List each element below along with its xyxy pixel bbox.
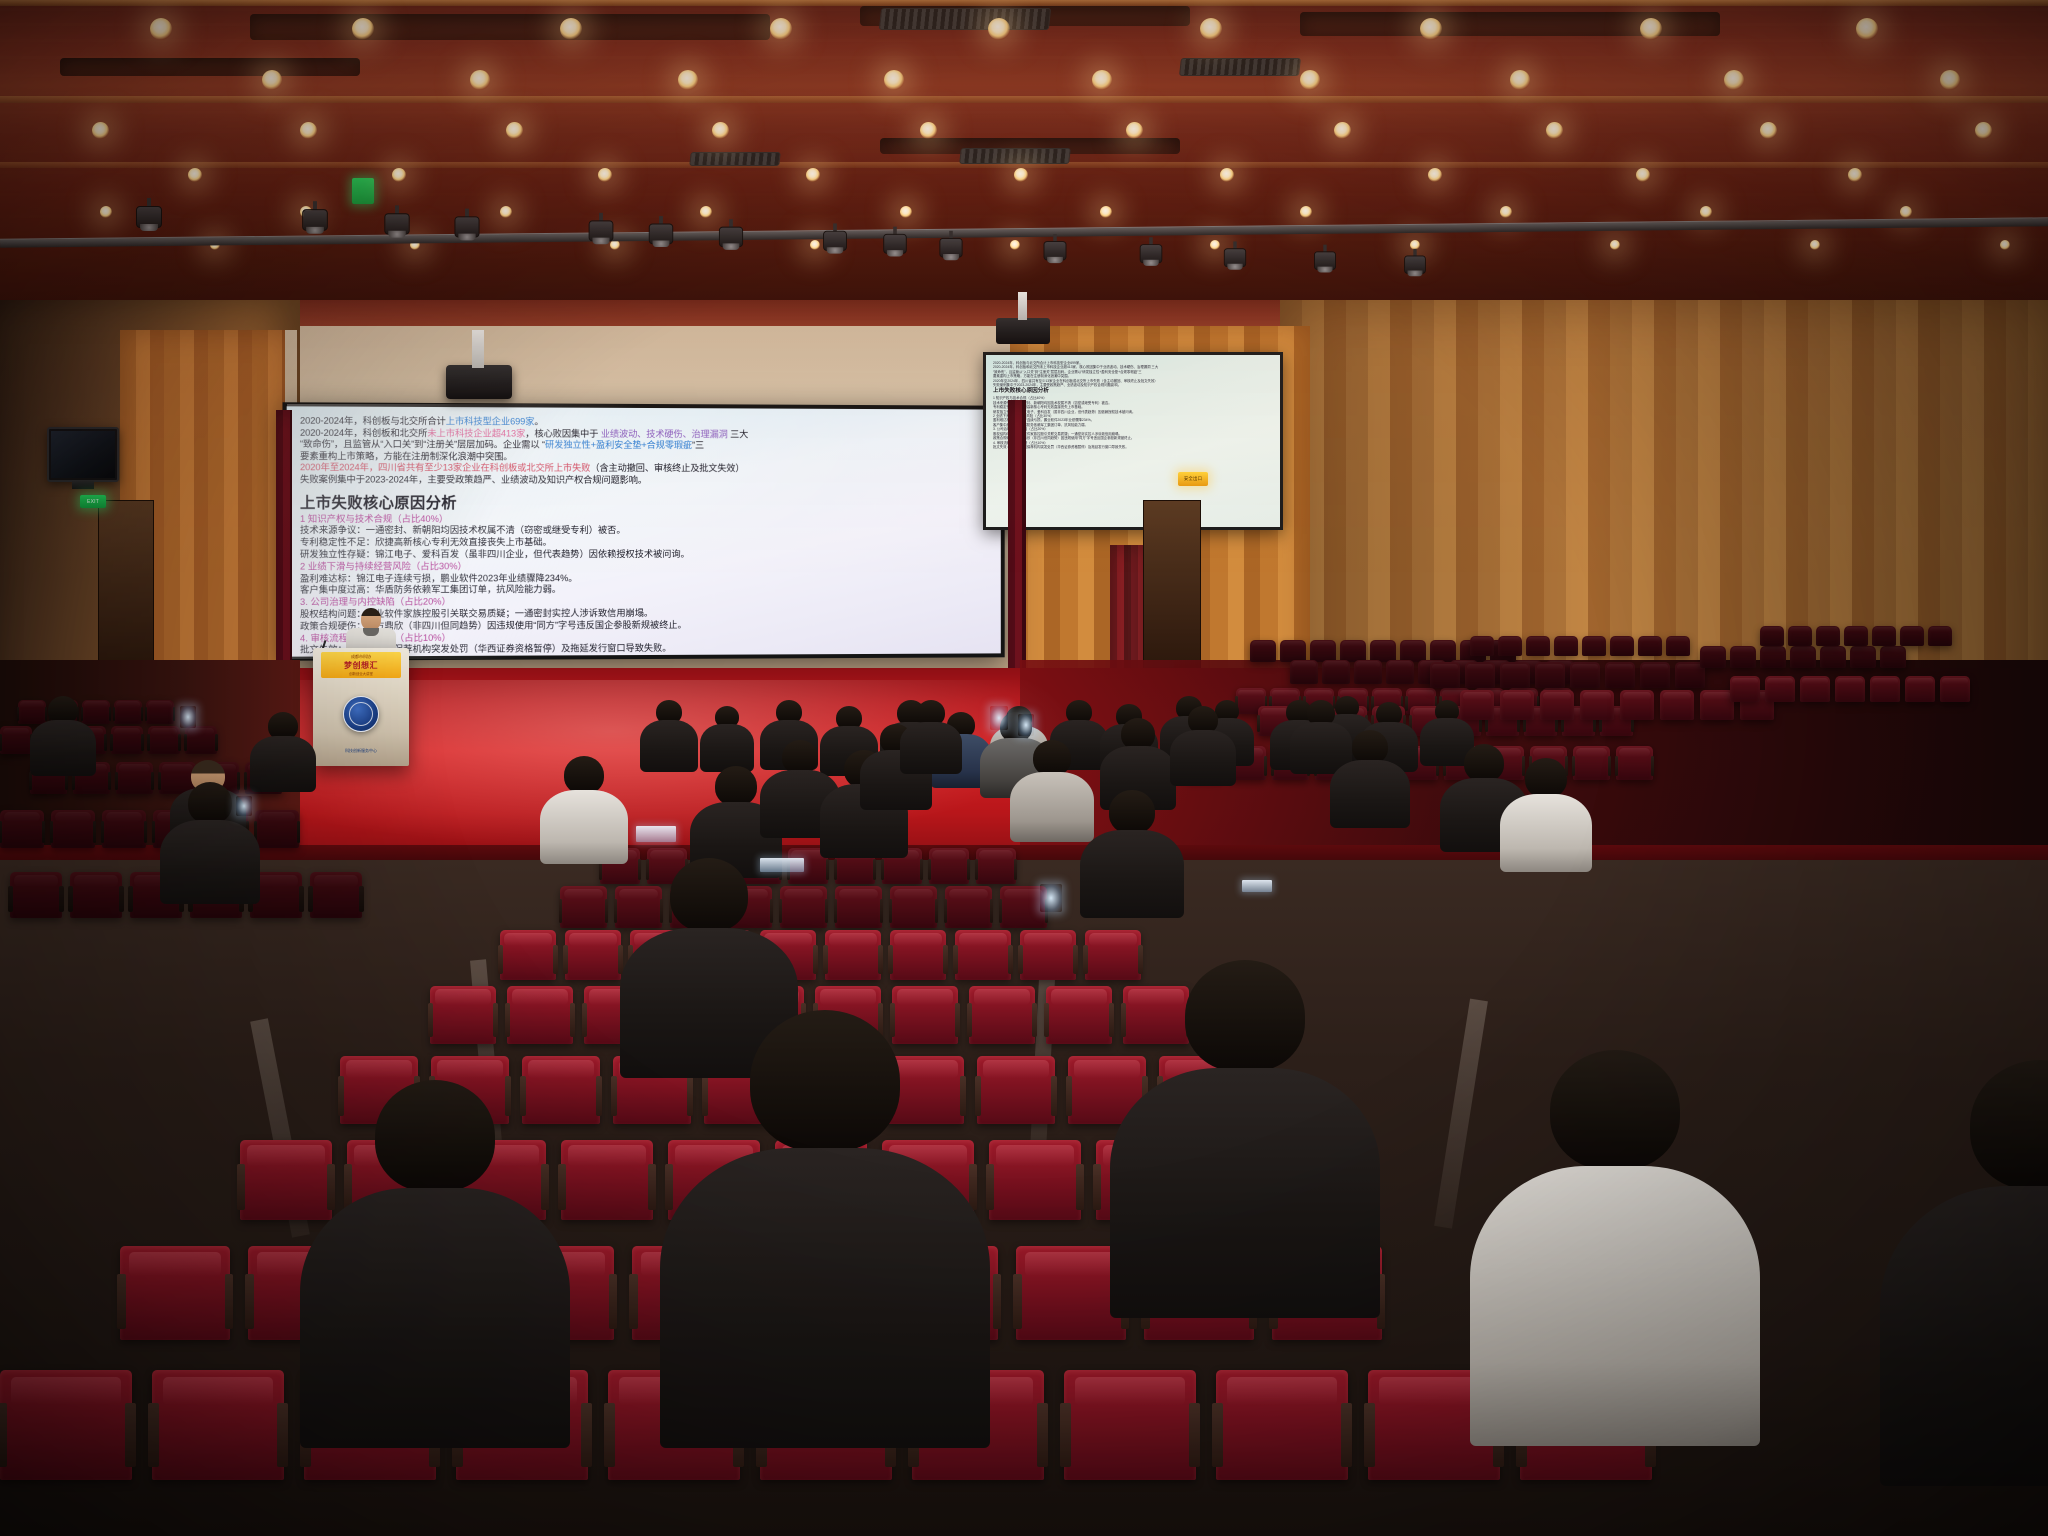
seat[interactable] bbox=[1620, 690, 1654, 720]
seat[interactable] bbox=[310, 872, 362, 918]
seat-backrest-highlight bbox=[1663, 692, 1692, 700]
seat-armrest bbox=[581, 1403, 592, 1467]
seat[interactable] bbox=[1430, 640, 1456, 662]
seat[interactable] bbox=[1470, 636, 1494, 656]
ceiling-downlight bbox=[1210, 240, 1220, 250]
seat-armrest bbox=[145, 707, 147, 721]
person-head bbox=[375, 1080, 495, 1192]
person-head bbox=[564, 756, 604, 794]
slide-section-heading-1: 1 知识产权与技术合规（占比40%） bbox=[300, 513, 991, 525]
podium: 成都市科协 梦创想汇 创新创业大讲堂 科技创新服务中心 bbox=[313, 648, 409, 766]
seat[interactable] bbox=[561, 1140, 653, 1220]
seat-armrest bbox=[1093, 1164, 1100, 1210]
seat-backrest-highlight bbox=[1312, 641, 1334, 647]
seat-armrest bbox=[0, 734, 2, 750]
seat[interactable] bbox=[1582, 636, 1606, 656]
seat[interactable] bbox=[1850, 646, 1876, 668]
seat[interactable] bbox=[1816, 626, 1840, 646]
seat-armrest bbox=[943, 945, 947, 974]
seat-backrest-highlight bbox=[1324, 661, 1348, 667]
audience-member bbox=[660, 1010, 990, 1452]
seat-armrest bbox=[559, 899, 563, 923]
podium-banner-main: 梦创想汇 bbox=[344, 660, 378, 671]
phone-screen bbox=[1018, 714, 1034, 736]
podium-emblem-ring bbox=[349, 702, 373, 726]
seat-backrest-highlight bbox=[1238, 690, 1263, 697]
seat-armrest bbox=[993, 1274, 1002, 1329]
seat[interactable] bbox=[0, 810, 44, 848]
seat[interactable] bbox=[976, 848, 1016, 884]
seat-armrest bbox=[999, 899, 1003, 923]
ceiling-downlight bbox=[560, 18, 582, 40]
monitor-left-stand bbox=[72, 480, 94, 489]
stage-spotlight bbox=[647, 216, 675, 248]
ceiling-downlight bbox=[92, 122, 109, 139]
phone-screen bbox=[236, 796, 252, 816]
seat[interactable] bbox=[1280, 640, 1306, 662]
seat-backrest-highlight bbox=[1642, 664, 1667, 671]
seat-backrest-highlight bbox=[979, 850, 1013, 859]
seat-backrest-highlight bbox=[119, 764, 150, 772]
stage-spotlight bbox=[1138, 237, 1164, 267]
seat-backrest-highlight bbox=[1272, 690, 1297, 697]
text: ，核心败因集中于 bbox=[525, 428, 601, 438]
seat[interactable] bbox=[185, 726, 217, 754]
seat[interactable] bbox=[10, 872, 62, 918]
secondary-display: 2020-2024年，科创板与北交所合计上市科技型企业699家。2020-202… bbox=[983, 352, 1283, 530]
audience-member bbox=[900, 700, 962, 778]
seat[interactable] bbox=[1872, 626, 1896, 646]
seat[interactable] bbox=[1540, 690, 1574, 720]
ceiling-panel bbox=[250, 14, 770, 40]
audience-member bbox=[1470, 1050, 1760, 1450]
seat[interactable] bbox=[1064, 1370, 1196, 1480]
seat-armrest bbox=[889, 899, 893, 923]
podium-caption: 科技创新服务中心 bbox=[313, 748, 409, 754]
seat[interactable] bbox=[1940, 676, 1970, 702]
ceiling-wood-strip bbox=[0, 96, 2048, 103]
ceiling-downlight bbox=[1100, 206, 1112, 218]
seat[interactable] bbox=[1700, 646, 1726, 668]
seat[interactable] bbox=[1526, 636, 1550, 656]
seat[interactable] bbox=[1640, 662, 1670, 688]
audience-member bbox=[640, 700, 698, 776]
seat-backrest-highlight bbox=[1732, 647, 1754, 653]
seat-armrest bbox=[614, 899, 618, 923]
ceiling-downlight bbox=[352, 18, 374, 40]
seat[interactable] bbox=[1844, 626, 1868, 646]
ceiling-projector-secondary bbox=[996, 318, 1050, 344]
seat[interactable] bbox=[1760, 646, 1786, 668]
seat[interactable] bbox=[102, 810, 146, 848]
seat-armrest bbox=[359, 886, 363, 913]
seat[interactable] bbox=[1500, 662, 1530, 688]
seat-armrest bbox=[125, 1403, 136, 1467]
spotlight-lens bbox=[1143, 260, 1159, 266]
seat-backrest-highlight bbox=[829, 933, 876, 946]
seat[interactable] bbox=[1290, 660, 1318, 684]
seat[interactable] bbox=[825, 930, 881, 980]
seat[interactable] bbox=[1638, 636, 1662, 656]
seat[interactable] bbox=[1354, 660, 1382, 684]
text: 2020-2024年，科创板和北交所 bbox=[300, 427, 427, 438]
seat-backrest-highlight bbox=[1463, 692, 1492, 700]
seat-armrest bbox=[93, 821, 97, 843]
seat[interactable] bbox=[70, 872, 122, 918]
seat-backrest-highlight bbox=[148, 701, 172, 707]
seat-backrest-highlight bbox=[254, 875, 298, 887]
text: 要素重构上市策略，方能在注册制深化浪潮中突围。 bbox=[300, 451, 513, 462]
seat[interactable] bbox=[1790, 646, 1816, 668]
ceiling-projector bbox=[446, 365, 512, 399]
seat-backrest-highlight bbox=[1408, 690, 1433, 697]
seat-armrest bbox=[834, 899, 838, 923]
seat[interactable] bbox=[114, 700, 142, 724]
seat-backrest-highlight bbox=[435, 989, 490, 1004]
seat[interactable] bbox=[1900, 626, 1924, 646]
spotlight-lens bbox=[653, 240, 670, 247]
seat-armrest bbox=[308, 886, 312, 913]
seat-backrest-highlight bbox=[1846, 627, 1866, 632]
seat-armrest bbox=[245, 1274, 254, 1329]
ceiling-downlight bbox=[300, 122, 317, 139]
seat-backrest-highlight bbox=[1907, 678, 1932, 685]
seat[interactable] bbox=[1216, 1370, 1348, 1480]
seat[interactable] bbox=[1666, 636, 1690, 656]
seat[interactable] bbox=[51, 810, 95, 848]
person-body bbox=[1470, 1166, 1760, 1446]
seat[interactable] bbox=[1500, 690, 1534, 720]
seat-backrest-highlight bbox=[1467, 664, 1492, 671]
seat[interactable] bbox=[1700, 690, 1734, 720]
seat[interactable] bbox=[1730, 646, 1756, 668]
person-body bbox=[640, 720, 698, 772]
person-body bbox=[160, 820, 260, 904]
ceiling-downlight bbox=[678, 70, 698, 90]
audience-member bbox=[540, 756, 628, 868]
seat-backrest-highlight bbox=[996, 1145, 1073, 1166]
seat[interactable] bbox=[1765, 676, 1795, 702]
ceiling-downlight bbox=[770, 18, 792, 40]
seat-backrest-highlight bbox=[974, 989, 1029, 1004]
seat-armrest bbox=[147, 734, 150, 750]
seat-armrest bbox=[570, 1003, 575, 1037]
seat-backrest-highlight bbox=[1024, 933, 1071, 946]
seat-backrest-highlight bbox=[1402, 641, 1424, 647]
seat[interactable] bbox=[0, 726, 32, 754]
seat[interactable] bbox=[1465, 662, 1495, 688]
seat[interactable] bbox=[890, 930, 946, 980]
seat-armrest bbox=[428, 1003, 433, 1037]
seat-armrest bbox=[215, 734, 218, 750]
seat-armrest bbox=[110, 734, 113, 750]
seat[interactable] bbox=[1498, 636, 1522, 656]
seat-backrest-highlight bbox=[932, 850, 966, 859]
seat-armrest bbox=[1037, 1403, 1048, 1467]
ceiling-downlight bbox=[1760, 122, 1777, 139]
slide-section-1-item-2: 专利稳定性不足：欣捷高新核心专利无效直接丧失上市基础。 bbox=[300, 537, 991, 549]
secondary-section-line-12: 批文失效：科志股份因保荐机构突发处罚（华西证券资格暂停）及拖延发行窗口导致失败。 bbox=[993, 445, 1273, 449]
seat[interactable] bbox=[146, 700, 174, 724]
seat-armrest bbox=[109, 707, 111, 721]
seat-backrest-highlight bbox=[983, 1060, 1049, 1078]
seat-backrest-highlight bbox=[512, 989, 567, 1004]
seat[interactable] bbox=[1800, 676, 1830, 702]
seat-backrest-highlight bbox=[1852, 647, 1874, 653]
ceiling-slat bbox=[0, 111, 2048, 114]
exit-sign-ceiling-icon bbox=[352, 178, 374, 204]
curtain-left bbox=[276, 410, 292, 690]
ceiling-downlight bbox=[1334, 122, 1351, 139]
text: ”三 bbox=[692, 440, 704, 450]
seat-armrest bbox=[975, 859, 978, 880]
seat-armrest bbox=[505, 1003, 510, 1037]
ceiling-downlight bbox=[1220, 168, 1234, 182]
seat[interactable] bbox=[955, 930, 1011, 980]
podium-emblem-icon bbox=[343, 696, 379, 732]
seat[interactable] bbox=[1400, 640, 1426, 662]
seat[interactable] bbox=[430, 986, 496, 1044]
exit-sign-right-icon: 安全出口 bbox=[1178, 472, 1208, 486]
seat-backrest-highlight bbox=[1792, 647, 1814, 653]
person-body bbox=[1330, 760, 1410, 828]
seat-armrest bbox=[277, 1403, 288, 1467]
seat[interactable] bbox=[1760, 626, 1784, 646]
seat[interactable] bbox=[1046, 986, 1112, 1044]
seat-armrest bbox=[42, 821, 46, 843]
person-body bbox=[1170, 730, 1236, 786]
spotlight-lens bbox=[1317, 267, 1332, 273]
ceiling-downlight bbox=[1010, 240, 1020, 250]
ceiling-downlight bbox=[1200, 18, 1222, 40]
seat-armrest bbox=[493, 1003, 498, 1037]
seat[interactable] bbox=[1386, 660, 1414, 684]
seat[interactable] bbox=[560, 886, 607, 928]
person-head bbox=[670, 858, 748, 932]
seat-armrest bbox=[1051, 1076, 1057, 1115]
seat[interactable] bbox=[1730, 676, 1760, 702]
monitor-left-screen bbox=[51, 431, 115, 478]
highlight: 上市科技型企业699家 bbox=[446, 416, 535, 426]
seat-armrest bbox=[1008, 945, 1012, 974]
seat-backrest-highlight bbox=[1930, 627, 1950, 632]
ceiling-vent bbox=[1179, 58, 1301, 76]
seat-armrest bbox=[1364, 1403, 1375, 1467]
seat-backrest-highlight bbox=[346, 1060, 412, 1078]
seat-armrest bbox=[1044, 1003, 1049, 1037]
seat-backrest-highlight bbox=[1762, 627, 1782, 632]
seat[interactable] bbox=[1928, 626, 1952, 646]
laptop-screen bbox=[636, 826, 676, 842]
seat-armrest bbox=[50, 821, 54, 843]
seat-backrest-highlight bbox=[129, 1252, 221, 1276]
ceiling-downlight bbox=[1848, 168, 1862, 182]
seat-armrest bbox=[609, 1274, 618, 1329]
seat-armrest bbox=[611, 1076, 617, 1115]
seat[interactable] bbox=[1820, 646, 1846, 668]
seat[interactable] bbox=[1250, 640, 1276, 662]
seat-armrest bbox=[1189, 1403, 1200, 1467]
seat[interactable] bbox=[1835, 676, 1865, 702]
spotlight-lens bbox=[458, 234, 475, 241]
seat[interactable] bbox=[148, 726, 180, 754]
seat-armrest bbox=[1066, 1076, 1072, 1115]
seat-armrest bbox=[953, 945, 957, 974]
spotlight-lens bbox=[388, 231, 406, 238]
seat-backrest-highlight bbox=[1004, 889, 1044, 900]
person-head bbox=[1464, 744, 1504, 782]
person-body bbox=[1110, 1068, 1380, 1318]
laptop-screen bbox=[760, 858, 804, 872]
seat-armrest bbox=[115, 772, 118, 791]
seat[interactable] bbox=[1020, 930, 1076, 980]
seat-armrest bbox=[582, 1003, 587, 1037]
ceiling-downlight bbox=[1610, 240, 1620, 250]
seat-backrest-highlight bbox=[1668, 637, 1688, 642]
seat-backrest-highlight bbox=[1802, 678, 1827, 685]
seat-armrest bbox=[152, 821, 156, 843]
person-body bbox=[30, 720, 96, 776]
ceiling-downlight bbox=[2000, 240, 2010, 250]
stage-spotlight bbox=[300, 201, 330, 235]
seat[interactable] bbox=[1340, 640, 1366, 662]
seat-armrest bbox=[104, 734, 107, 750]
slide-title: 上市失败核心原因分析 bbox=[300, 492, 991, 514]
seat-backrest-highlight bbox=[1677, 664, 1702, 671]
ceiling-downlight bbox=[1856, 18, 1878, 40]
seat[interactable] bbox=[152, 1370, 284, 1480]
seat-backrest-highlight bbox=[1619, 748, 1650, 757]
phone-screen bbox=[990, 706, 1008, 730]
audience-member bbox=[1330, 730, 1410, 832]
ceiling-downlight bbox=[1940, 70, 1960, 90]
text: 三大 bbox=[728, 429, 748, 439]
seat-armrest bbox=[225, 1274, 234, 1329]
seat-backrest-highlight bbox=[897, 989, 952, 1004]
seat[interactable] bbox=[890, 886, 937, 928]
seat-backrest-highlight bbox=[1818, 627, 1838, 632]
seat[interactable] bbox=[1570, 662, 1600, 688]
seat-backrest-highlight bbox=[106, 812, 143, 822]
laptop-screen bbox=[1242, 880, 1272, 892]
person-head bbox=[1970, 1060, 2048, 1190]
seat[interactable] bbox=[1788, 626, 1812, 646]
audience-member bbox=[1880, 1060, 2048, 1490]
seat-armrest bbox=[553, 945, 557, 974]
seat[interactable] bbox=[255, 810, 299, 848]
seat-backrest-highlight bbox=[894, 889, 934, 900]
seat[interactable] bbox=[0, 1370, 132, 1480]
seat[interactable] bbox=[111, 726, 143, 754]
slide-section-heading-2: 2 业绩下滑与持续经营风险（占比30%） bbox=[300, 560, 991, 573]
seat[interactable] bbox=[1880, 646, 1906, 668]
spotlight-lens bbox=[827, 247, 843, 253]
seat[interactable] bbox=[1554, 636, 1578, 656]
seat[interactable] bbox=[1535, 662, 1565, 688]
seat[interactable] bbox=[989, 1140, 1081, 1220]
ceiling-downlight bbox=[188, 168, 202, 182]
stage-spotlight bbox=[1222, 241, 1248, 270]
seat-backrest-highlight bbox=[116, 701, 140, 707]
seat-armrest bbox=[17, 707, 19, 721]
seat-armrest bbox=[1264, 756, 1267, 776]
seat[interactable] bbox=[1870, 676, 1900, 702]
seat-backrest-highlight bbox=[1790, 627, 1810, 632]
person-body bbox=[1080, 830, 1184, 918]
seat[interactable] bbox=[1310, 640, 1336, 662]
stage-spotlight bbox=[134, 198, 164, 232]
seat-armrest bbox=[1013, 1274, 1022, 1329]
seat[interactable] bbox=[507, 986, 573, 1044]
seat[interactable] bbox=[1370, 640, 1396, 662]
seat[interactable] bbox=[1616, 746, 1653, 780]
seat-armrest bbox=[1608, 756, 1611, 776]
ceiling-downlight bbox=[1300, 70, 1320, 90]
person-head bbox=[1033, 740, 1071, 776]
seat[interactable] bbox=[1580, 690, 1614, 720]
seat-backrest-highlight bbox=[1227, 1377, 1338, 1406]
seat-armrest bbox=[1615, 756, 1618, 776]
ceiling-downlight bbox=[1810, 240, 1820, 250]
seat[interactable] bbox=[945, 886, 992, 928]
seat[interactable] bbox=[116, 762, 153, 794]
seat[interactable] bbox=[929, 848, 969, 884]
seat[interactable] bbox=[1660, 690, 1694, 720]
ceiling-downlight bbox=[1420, 18, 1442, 40]
seat-armrest bbox=[108, 772, 111, 791]
seat-backrest-highlight bbox=[114, 728, 141, 735]
seat-backrest-highlight bbox=[14, 875, 58, 887]
ceiling-downlight bbox=[1092, 70, 1112, 90]
seat-backrest-highlight bbox=[1533, 748, 1564, 757]
spotlight-lens bbox=[723, 243, 740, 249]
seat-backrest-highlight bbox=[1732, 678, 1757, 685]
seat-armrest bbox=[990, 899, 994, 923]
seat-armrest bbox=[878, 945, 882, 974]
seat[interactable] bbox=[1610, 636, 1634, 656]
seat[interactable] bbox=[1430, 662, 1460, 688]
ceiling-downlight bbox=[1126, 122, 1143, 139]
stage-spotlight bbox=[1312, 245, 1337, 274]
seat[interactable] bbox=[120, 1246, 230, 1340]
phone-screen bbox=[180, 706, 196, 728]
seat-backrest-highlight bbox=[1822, 647, 1844, 653]
seat-armrest bbox=[944, 899, 948, 923]
seat-backrest-highlight bbox=[163, 1377, 274, 1406]
seat-backrest-highlight bbox=[1902, 627, 1922, 632]
seat[interactable] bbox=[500, 930, 556, 980]
seat-backrest-highlight bbox=[1503, 692, 1532, 700]
person-head bbox=[1185, 960, 1305, 1072]
seat-armrest bbox=[648, 1164, 655, 1210]
projector-mount-secondary bbox=[1018, 292, 1027, 320]
seat[interactable] bbox=[1322, 660, 1350, 684]
seat[interactable] bbox=[565, 930, 621, 980]
seat-backrest-highlight bbox=[1640, 637, 1660, 642]
seat[interactable] bbox=[1905, 676, 1935, 702]
seat-armrest bbox=[119, 886, 123, 913]
seat[interactable] bbox=[1605, 662, 1635, 688]
secondary-display-surface: 2020-2024年，科创板与北交所合计上市科技型企业699家。2020-202… bbox=[986, 355, 1280, 527]
ceiling-vent bbox=[959, 148, 1071, 164]
seat-backrest-highlight bbox=[1500, 637, 1520, 642]
ceiling-downlight bbox=[1014, 168, 1028, 182]
seat[interactable] bbox=[835, 886, 882, 928]
ceiling-downlight bbox=[1510, 70, 1530, 90]
ceiling-downlight bbox=[1636, 168, 1650, 182]
seat-armrest bbox=[1257, 715, 1260, 732]
seat-backrest-highlight bbox=[1584, 637, 1604, 642]
